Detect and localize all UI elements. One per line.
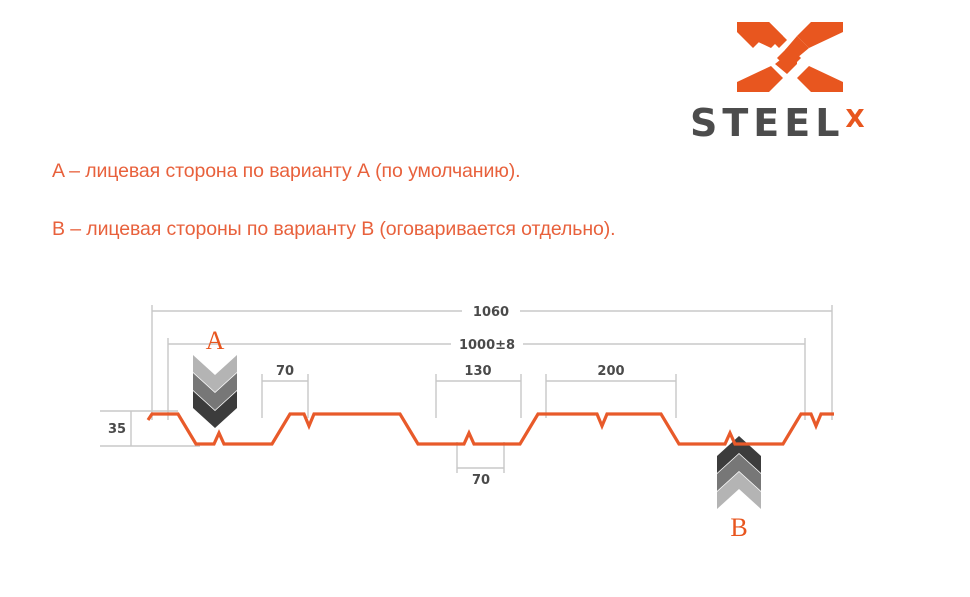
dimension-label-200: 200: [597, 364, 624, 379]
dimension-rib-top-width: 70: [262, 364, 308, 418]
dimension-valley-width: 70: [457, 442, 504, 488]
corrugated-profile-line: [148, 414, 834, 444]
dimension-label-35: 35: [108, 422, 126, 437]
marker-b-letter: B: [730, 513, 747, 542]
dimension-crest-width: 130: [436, 364, 521, 418]
dimension-effective-width: 1000±8: [168, 338, 805, 420]
marker-a-letter: A: [206, 326, 225, 355]
dimension-label-1060: 1060: [473, 305, 509, 320]
dimension-label-70-bottom: 70: [472, 473, 490, 488]
marker-b: B: [717, 436, 761, 542]
profile-technical-drawing: 1060 1000±8 70 130 200 70: [0, 0, 970, 597]
dimension-pitch: 200: [546, 364, 676, 418]
marker-a: A: [193, 326, 237, 428]
dimension-label-130: 130: [464, 364, 491, 379]
dimension-label-1000: 1000±8: [459, 338, 515, 353]
dimension-label-70-top: 70: [276, 364, 294, 379]
dimension-overall-width: 1060: [152, 305, 832, 420]
